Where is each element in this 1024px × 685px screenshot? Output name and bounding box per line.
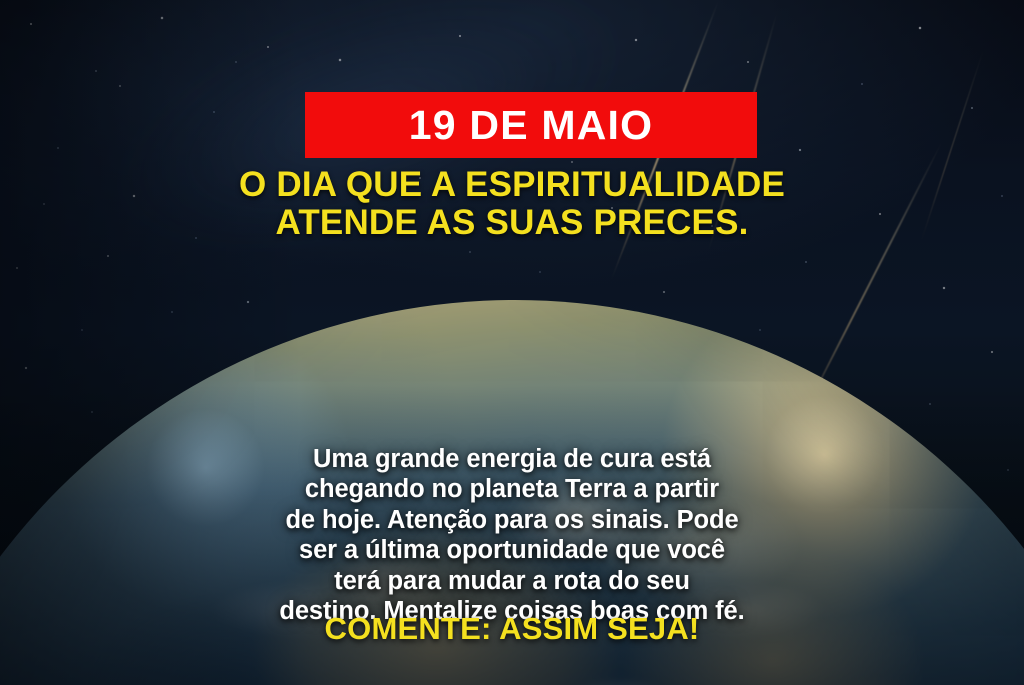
poster-canvas: 19 DE MAIO O DIA QUE A ESPIRITUALIDADE A… xyxy=(0,0,1024,685)
date-banner: 19 DE MAIO xyxy=(305,92,757,158)
body-paragraph: Uma grande energia de cura está chegando… xyxy=(0,444,1024,627)
poster-content: 19 DE MAIO O DIA QUE A ESPIRITUALIDADE A… xyxy=(0,0,1024,685)
date-banner-text: 19 DE MAIO xyxy=(409,105,653,146)
call-to-action-text: COMENTE: ASSIM SEJA! xyxy=(0,613,1024,644)
headline-text: O DIA QUE A ESPIRITUALIDADE ATENDE AS SU… xyxy=(0,166,1024,242)
